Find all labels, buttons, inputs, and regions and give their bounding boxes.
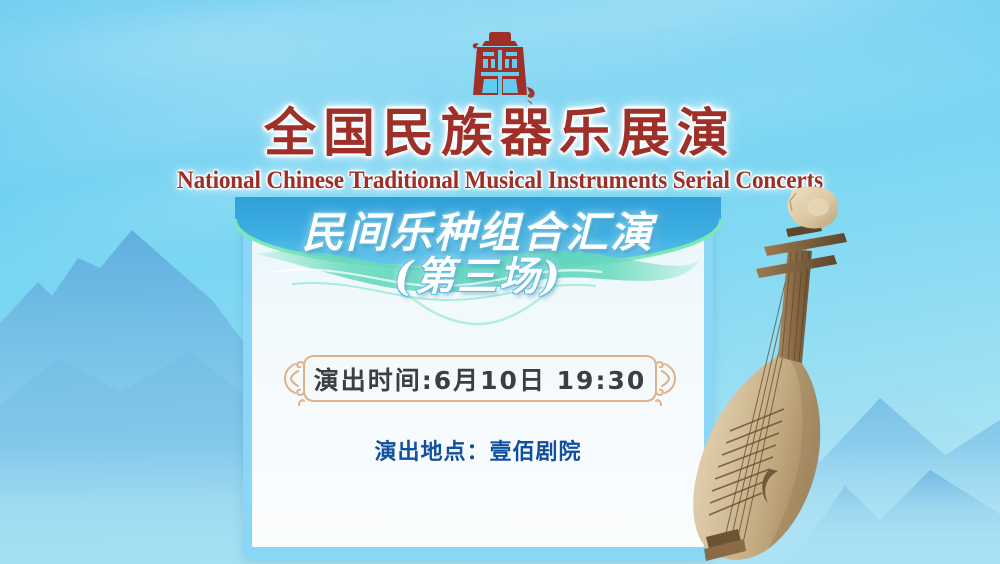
poster-title-chinese: 全国民族器乐展演 [0, 108, 1000, 160]
seal-script-yue-character-logo [457, 30, 543, 108]
performance-venue-label: 演出地点：壹佰剧院 [243, 434, 713, 466]
event-poster: 全国民族器乐展演 National Chinese Traditional Mu… [0, 0, 1000, 564]
performance-time-label: 演出时间:6月10日 19:30 [278, 347, 682, 410]
performance-time-box: 演出时间:6月10日 19:30 [278, 347, 682, 410]
poster-title-english: National Chinese Traditional Musical Ins… [35, 168, 965, 194]
